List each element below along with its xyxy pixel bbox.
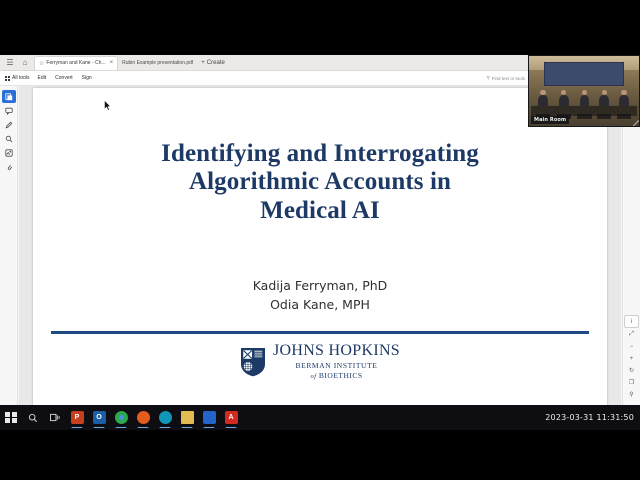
tab-label: Rubin Example presentation.pdf (122, 60, 193, 66)
slide-authors: Kadija Ferryman, PhD Odia Kane, MPH (90, 276, 549, 315)
stamp-icon[interactable] (2, 146, 16, 159)
search-input[interactable]: ⚲ Find text or tools (486, 75, 525, 81)
slide-title-line-2: Algorithmic Accounts in (73, 168, 567, 196)
fit-width-icon[interactable]: ⤢ (625, 329, 638, 340)
author-secondary: Odia Kane, MPH (90, 295, 549, 314)
logo-of-word: of (310, 373, 316, 380)
new-tab-button[interactable]: + Create (201, 60, 225, 66)
attachment-icon[interactable] (2, 160, 16, 173)
hamburger-icon[interactable]: ☰ (4, 57, 16, 69)
grid-icon (5, 76, 10, 81)
shield-crest-icon (240, 347, 266, 377)
firefox-icon (137, 411, 150, 424)
search-icon[interactable] (22, 405, 44, 430)
acrobat-icon: A (225, 411, 238, 424)
resize-handle[interactable] (633, 120, 639, 126)
menu-edit[interactable]: Edit (38, 75, 47, 81)
page-thumbnails-icon[interactable] (2, 90, 16, 103)
slide-divider-rule (51, 331, 588, 334)
zoom-in-icon[interactable]: + (625, 353, 638, 364)
tab-label: Ferryman and Kane - Ch... (46, 60, 105, 66)
participant-nameplate (577, 114, 591, 119)
search-icon[interactable] (2, 132, 16, 145)
logo-bioethics-name: of BIOETHICS (273, 371, 400, 380)
video-participant (559, 95, 569, 107)
main-room-label: Main Room (531, 116, 569, 124)
video-conference-panel[interactable]: Main Room (528, 55, 640, 127)
new-tab-label: Create (207, 60, 225, 66)
taskbar-app-outlook[interactable]: O (88, 405, 110, 430)
teams-icon (203, 411, 216, 424)
rotate-icon[interactable]: ↻ (625, 365, 638, 376)
tab-rubin-example[interactable]: Rubin Example presentation.pdf (118, 56, 197, 70)
participant-head (621, 90, 627, 95)
logo-institute-name: BERMAN INSTITUTE (273, 361, 400, 370)
slide-title: Identifying and Interrogating Algorithmi… (73, 140, 567, 225)
taskbar-app-powerpoint[interactable]: P (66, 405, 88, 430)
edge-icon (159, 411, 172, 424)
close-icon[interactable]: × (110, 60, 114, 66)
export-pdf-icon[interactable]: ❐ (625, 377, 638, 388)
taskbar-app-edge[interactable] (154, 405, 176, 430)
video-participant (599, 95, 609, 107)
pen-draw-icon[interactable] (2, 118, 16, 131)
participant-nameplate (617, 114, 631, 119)
video-participant (580, 95, 590, 107)
taskbar-app-acrobat[interactable]: A (220, 405, 242, 430)
windows-logo (5, 412, 17, 424)
slide-title-line-3: Medical AI (73, 197, 567, 225)
johns-hopkins-logo: JOHNS HOPKINS BERMAN INSTITUTE of BIOETH… (33, 343, 607, 380)
taskbar-app-file-explorer[interactable] (176, 405, 198, 430)
all-tools-label: All tools (12, 75, 30, 81)
pdf-page: Identifying and Interrogating Algorithmi… (33, 88, 607, 405)
comment-icon[interactable] (2, 104, 16, 117)
participant-head (582, 90, 588, 95)
windows-start-icon[interactable] (0, 405, 22, 430)
taskbar-app-firefox[interactable] (132, 405, 154, 430)
star-icon: ☆ (39, 60, 44, 67)
all-tools-button[interactable]: All tools (5, 75, 30, 81)
letterbox-bottom (0, 430, 640, 480)
logo-university-name: JOHNS HOPKINS (273, 343, 400, 359)
powerpoint-icon: P (71, 411, 84, 424)
document-viewport[interactable]: Identifying and Interrogating Algorithmi… (19, 86, 621, 405)
zoom-out-icon[interactable]: − (625, 341, 638, 352)
taskbar-app-chrome[interactable] (110, 405, 132, 430)
screen: ☰ ⌂ ☆ Ferryman and Kane - Ch... × Rubin … (0, 0, 640, 480)
video-participant (538, 95, 548, 107)
tab-ferryman-and-kane[interactable]: ☆ Ferryman and Kane - Ch... × (34, 56, 118, 70)
left-tool-rail (0, 86, 18, 405)
info-icon[interactable]: i (624, 315, 639, 328)
logo-text-block: JOHNS HOPKINS BERMAN INSTITUTE of BIOETH… (273, 343, 400, 380)
task-view-icon[interactable] (44, 405, 66, 430)
taskbar-app-teams[interactable] (198, 405, 220, 430)
search-placeholder: Find text or tools (492, 76, 525, 81)
share-icon[interactable]: ⚲ (625, 389, 638, 400)
file-explorer-icon (181, 411, 194, 424)
video-participant (619, 95, 629, 107)
logo-bioethics-word: BIOETHICS (319, 371, 363, 380)
participant-head (540, 90, 546, 95)
search-icon: ⚲ (486, 75, 489, 81)
right-tool-rail: i ⤢ − + ↻ ❐ ⚲ (622, 86, 640, 405)
windows-taskbar: P O A 2023-03-31 11:31:50 (0, 405, 640, 430)
menu-convert[interactable]: Convert (55, 75, 73, 81)
menu-sign[interactable]: Sign (82, 75, 92, 81)
video-projection-screen (544, 62, 623, 86)
mouse-cursor (104, 100, 111, 111)
plus-icon: + (201, 60, 205, 66)
slide-title-line-1: Identifying and Interrogating (73, 140, 567, 168)
chrome-icon (115, 411, 128, 424)
taskbar-clock[interactable]: 2023-03-31 11:31:50 (545, 413, 634, 422)
participant-nameplate (597, 114, 611, 119)
home-icon[interactable]: ⌂ (19, 57, 31, 69)
participant-head (602, 90, 608, 95)
letterbox-top (0, 0, 640, 55)
outlook-icon: O (93, 411, 106, 424)
author-primary: Kadija Ferryman, PhD (90, 276, 549, 295)
